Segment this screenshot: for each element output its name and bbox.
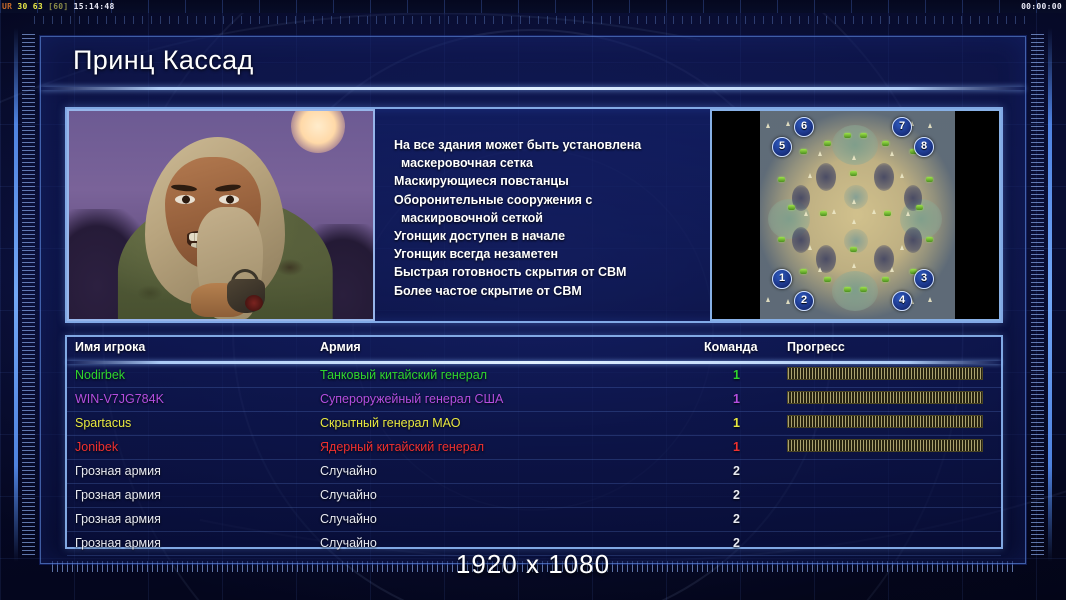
minimap-resource-icon [778,237,785,242]
minimap-resource-icon [824,277,831,282]
player-team: 1 [733,416,740,430]
column-header-name: Имя игрока [75,340,145,354]
minimap-resource-icon [850,171,857,176]
table-row[interactable]: SpartacusСкрытный генерал МАО1 [67,412,1001,436]
minimap-tree-icon [808,245,812,250]
table-row[interactable]: Грозная армияСлучайно2 [67,508,1001,532]
minimap-resource-icon [800,149,807,154]
player-progress-fill [788,368,982,379]
minimap-resource-icon [916,205,923,210]
player-name: Грозная армия [75,536,161,550]
title-divider [41,87,1025,90]
player-progress-bar [787,439,983,452]
player-team: 2 [733,512,740,526]
minimap-image: 12345678 [760,111,955,319]
minimap-frame: 12345678 [710,109,1001,321]
minimap-tree-icon [786,299,790,304]
minimap-tree-icon [928,297,932,302]
table-row[interactable]: JonibekЯдерный китайский генерал1 [67,436,1001,460]
minimap-start-position-6[interactable]: 6 [794,117,814,137]
ability-line: Более частое скрытие от СВМ [394,282,710,300]
player-name: Грозная армия [75,464,161,478]
minimap-tree-icon [786,121,790,126]
minimap-tree-icon [766,297,770,302]
column-header-army: Армия [320,340,361,354]
player-progress-bar [787,415,983,428]
player-list-panel: Имя игрока Армия Команда Прогресс Nodirb… [65,335,1003,549]
minimap-tree-icon [818,151,822,156]
player-progress-fill [788,416,982,427]
minimap-start-position-7[interactable]: 7 [892,117,912,137]
minimap-resource-icon [882,277,889,282]
minimap-resource-icon [882,141,889,146]
frame-edge-left [14,28,18,562]
table-row[interactable]: WIN-V7JG784KСупероружейный генерал США1 [67,388,1001,412]
minimap-terrain-feature [874,163,894,191]
minimap-tree-icon [804,211,808,216]
minimap-resource-icon [850,247,857,252]
general-ability-description: На все здания может быть установленамаск… [375,109,710,321]
minimap-resource-icon [926,177,933,182]
player-table-body: NodirbekТанковый китайский генерал1WIN-V… [67,364,1001,547]
minimap-start-position-8[interactable]: 8 [914,137,934,157]
minimap-tree-icon [808,173,812,178]
minimap-start-position-1[interactable]: 1 [772,269,792,289]
minimap-resource-icon [926,237,933,242]
minimap-tree-icon [766,123,770,128]
hud-clock: 15:14:48 [74,2,115,11]
minimap-tree-icon [906,211,910,216]
minimap-start-position-3[interactable]: 3 [914,269,934,289]
minimap-terrain-feature [904,227,922,253]
minimap-terrain-feature [816,163,836,191]
general-portrait-image [69,111,373,319]
minimap-tree-icon [928,123,932,128]
minimap-tree-icon [832,209,836,214]
minimap-resource-icon [844,287,851,292]
ability-line: На все здания может быть установлена [394,136,710,154]
ability-list: На все здания может быть установленамаск… [394,136,710,300]
minimap-tree-icon [852,199,856,204]
table-row[interactable]: NodirbekТанковый китайский генерал1 [67,364,1001,388]
minimap-resource-icon [800,269,807,274]
minimap-resource-icon [824,141,831,146]
minimap-terrain-feature [832,271,878,311]
hud-performance-readout: UR 30 63 [60] 15:14:48 [2,1,115,12]
player-team: 1 [733,440,740,454]
minimap-tree-icon [890,267,894,272]
minimap-resource-icon [884,211,891,216]
player-army: Случайно [320,464,377,478]
general-info-panel: На все здания может быть установленамаск… [65,107,1003,323]
ability-line: Маскирующиеся повстанцы [394,172,710,190]
minimap-start-position-2[interactable]: 2 [794,291,814,311]
player-army: Случайно [320,488,377,502]
player-name: Jonibek [75,440,118,454]
general-portrait-frame [67,109,375,321]
player-team: 2 [733,464,740,478]
minimap-resource-icon [860,287,867,292]
page-title: Принц Кассад [73,45,254,76]
column-header-progress: Прогресс [787,340,845,354]
minimap-resource-icon [778,177,785,182]
minimap-tree-icon [852,219,856,224]
player-army: Ядерный китайский генерал [320,440,484,454]
player-progress-fill [788,392,982,403]
player-name: WIN-V7JG784K [75,392,164,406]
player-team: 1 [733,392,740,406]
table-row[interactable]: Грозная армияСлучайно2 [67,460,1001,484]
hud-value-1: 30 [17,2,27,11]
frame-ruler-left [22,34,35,556]
minimap-resource-icon [820,211,827,216]
frame-ruler-top [34,16,1032,24]
minimap-tree-icon [852,263,856,268]
player-army: Случайно [320,536,377,550]
player-progress-fill [788,440,982,451]
player-army: Супероружейный генерал США [320,392,503,406]
minimap-resource-icon [788,205,795,210]
ability-line: маскировочной сеткой [394,209,710,227]
resolution-label: 1920 x 1080 [0,549,1066,580]
player-name: Spartacus [75,416,131,430]
loading-screen-window: Принц Кассад [40,36,1026,564]
hud-value-3: [60] [48,2,68,11]
ability-line: Угонщик доступен в начале [394,227,710,245]
player-army: Случайно [320,512,377,526]
player-name: Nodirbek [75,368,125,382]
player-name: Грозная армия [75,488,161,502]
title-area: Принц Кассад [41,37,1025,87]
minimap-tree-icon [818,267,822,272]
player-table-header: Имя игрока Армия Команда Прогресс [67,337,1001,361]
player-name: Грозная армия [75,512,161,526]
top-status-bar: UR 30 63 [60] 15:14:48 00:00:00 [0,0,1066,13]
minimap-resource-icon [844,133,851,138]
table-row[interactable]: Грозная армияСлучайно2 [67,484,1001,508]
portrait-eye-right [219,195,239,204]
player-team: 1 [733,368,740,382]
player-progress-bar [787,391,983,404]
ability-line: маскеровочная сетка [394,154,710,172]
minimap-start-position-5[interactable]: 5 [772,137,792,157]
hud-ur-label: UR [2,2,12,11]
hud-match-timer: 00:00:00 [1021,1,1062,12]
frame-edge-right [1048,28,1052,562]
player-army: Скрытный генерал МАО [320,416,460,430]
minimap-tree-icon [890,151,894,156]
minimap-resource-icon [860,133,867,138]
topbar-tick-marks [0,0,1066,13]
ability-line: Оборонительные сооружения с [394,191,710,209]
player-progress-bar [787,367,983,380]
minimap-tree-icon [900,245,904,250]
minimap-tree-icon [852,155,856,160]
ability-line: Угонщик всегда незаметен [394,245,710,263]
frame-ruler-right [1031,34,1044,556]
minimap-tree-icon [872,209,876,214]
hud-value-2: 63 [33,2,43,11]
minimap-start-position-4[interactable]: 4 [892,291,912,311]
player-army: Танковый китайский генерал [320,368,487,382]
portrait-lamp-glow [245,295,263,311]
player-team: 2 [733,488,740,502]
player-team: 2 [733,536,740,550]
ability-line: Быстрая готовность скрытия от СВМ [394,263,710,281]
column-header-team: Команда [704,340,758,354]
minimap-tree-icon [900,173,904,178]
minimap-terrain-feature [844,185,868,209]
portrait-eye-left [175,195,195,204]
